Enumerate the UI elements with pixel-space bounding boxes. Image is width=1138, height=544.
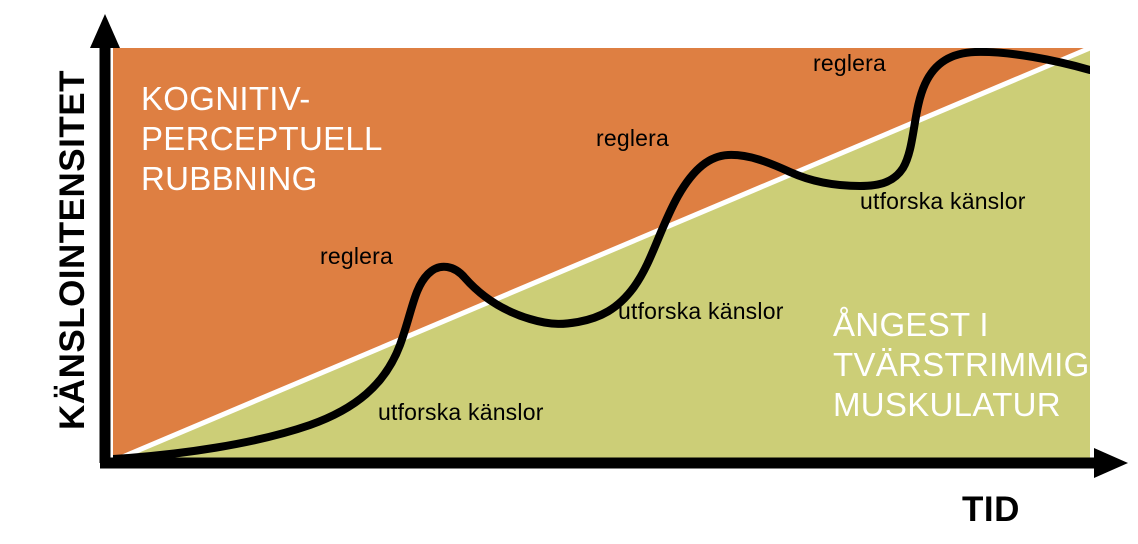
annotation-utforska-kanslor-3: utforska känslor bbox=[860, 188, 1026, 215]
y-axis-label: KÄNSLOINTENSITET bbox=[53, 40, 93, 460]
annotation-reglera-3: reglera bbox=[813, 50, 886, 77]
emotion-intensity-diagram: KÄNSLOINTENSITET TID KOGNITIV- PERCEPTUE… bbox=[0, 0, 1138, 544]
annotation-reglera-1: reglera bbox=[320, 243, 393, 270]
x-axis-label: TID bbox=[962, 490, 1020, 530]
y-axis-arrowhead bbox=[90, 14, 120, 48]
annotation-reglera-2: reglera bbox=[596, 125, 669, 152]
zone-upper-title: KOGNITIV- PERCEPTUELL RUBBNING bbox=[141, 79, 383, 199]
zone-lower-title: ÅNGEST I TVÄRSTRIMMIG MUSKULATUR bbox=[833, 305, 1090, 425]
annotation-utforska-kanslor-1: utforska känslor bbox=[378, 399, 544, 426]
annotation-utforska-kanslor-2: utforska känslor bbox=[618, 298, 784, 325]
x-axis-arrowhead bbox=[1094, 448, 1128, 478]
